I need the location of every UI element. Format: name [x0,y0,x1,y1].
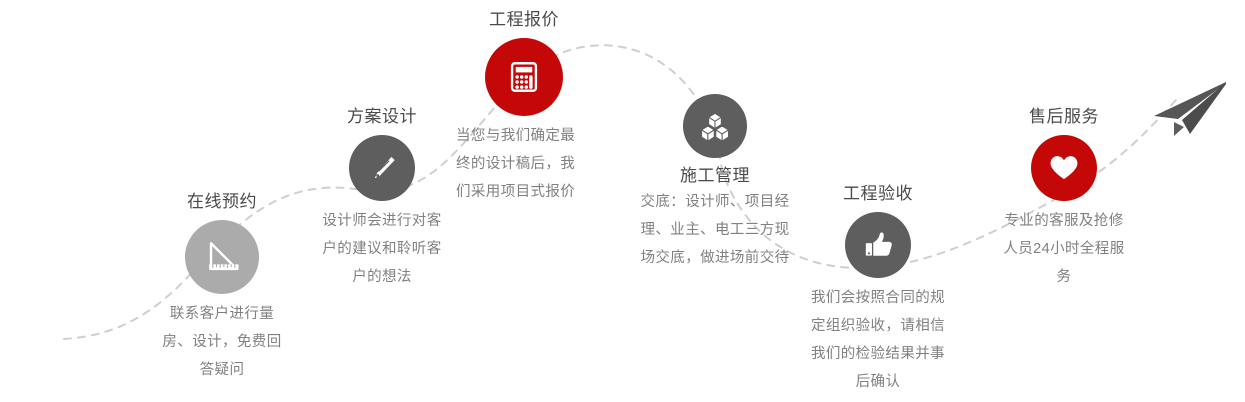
heart-icon [1031,135,1097,201]
desc-line: 后确认 [798,368,958,396]
desc-line: 场交底，做进场前交待 [629,244,801,272]
desc-line: 设计师会进行对客 [302,207,462,235]
step-description: 设计师会进行对客 户的建议和聆听客 户的想法 [302,207,462,291]
step-title: 工程报价 [424,8,624,32]
desc-line: 我们的检验结果并事 [798,340,958,368]
desc-line: 当您与我们确定最 [456,122,596,150]
desc-line: 户的想法 [302,263,462,291]
step-3-project-quotation[interactable]: 工程报价 当您与我们确定 [434,8,624,206]
step-description: 联系客户进行量 房、设计，免费回 答疑问 [142,300,302,384]
desc-line: 们采用项目式报价 [456,178,596,206]
desc-line: 务 [984,263,1144,291]
step-description: 我们会按照合同的规 定组织验收，请相信 我们的检验结果并事 后确认 [798,284,958,396]
desc-line: 专业的客服及抢修 [984,207,1144,235]
step-description: 交底：设计师、项目经 理、业主、电工三方现 场交底，做进场前交待 [629,188,801,272]
step-description: 专业的客服及抢修 人员24小时全程服 务 [984,207,1144,291]
desc-line: 答疑问 [142,356,302,384]
step-5-project-acceptance[interactable]: 工程验收 我们会按照合同的规 定组织验收，请相信 我们的检验结果并事 后确认 [778,182,978,396]
desc-line: 定组织验收，请相信 [798,312,958,340]
desc-line: 人员24小时全程服 [984,235,1144,263]
step-icon-wrap [964,135,1164,201]
desc-line: 交底：设计师、项目经 [629,188,801,216]
calculator-icon [485,38,563,116]
service-process-flow: 在线预约 联系客户进行量 [0,0,1245,402]
desc-line: 终的设计稿后，我 [456,150,596,178]
step-title: 售后服务 [964,105,1164,129]
desc-line: 户的建议和聆听客 [302,235,462,263]
pen-nib-icon [349,135,415,201]
cubes-icon [683,94,747,158]
step-icon-wrap [778,212,978,278]
thumbs-up-icon [845,212,911,278]
step-icon-wrap [620,94,810,158]
ruler-triangle-icon [185,220,259,294]
desc-line: 房、设计，免费回 [142,328,302,356]
desc-line: 我们会按照合同的规 [798,284,958,312]
step-description: 当您与我们确定最 终的设计稿后，我 们采用项目式报价 [456,122,596,206]
step-title: 工程验收 [778,182,978,206]
desc-line: 联系客户进行量 [142,300,302,328]
desc-line: 理、业主、电工三方现 [629,216,801,244]
step-6-after-sales-service[interactable]: 售后服务 专业的客服及抢修 人员24小时全程服 务 [964,105,1164,291]
step-icon-wrap [424,38,624,116]
